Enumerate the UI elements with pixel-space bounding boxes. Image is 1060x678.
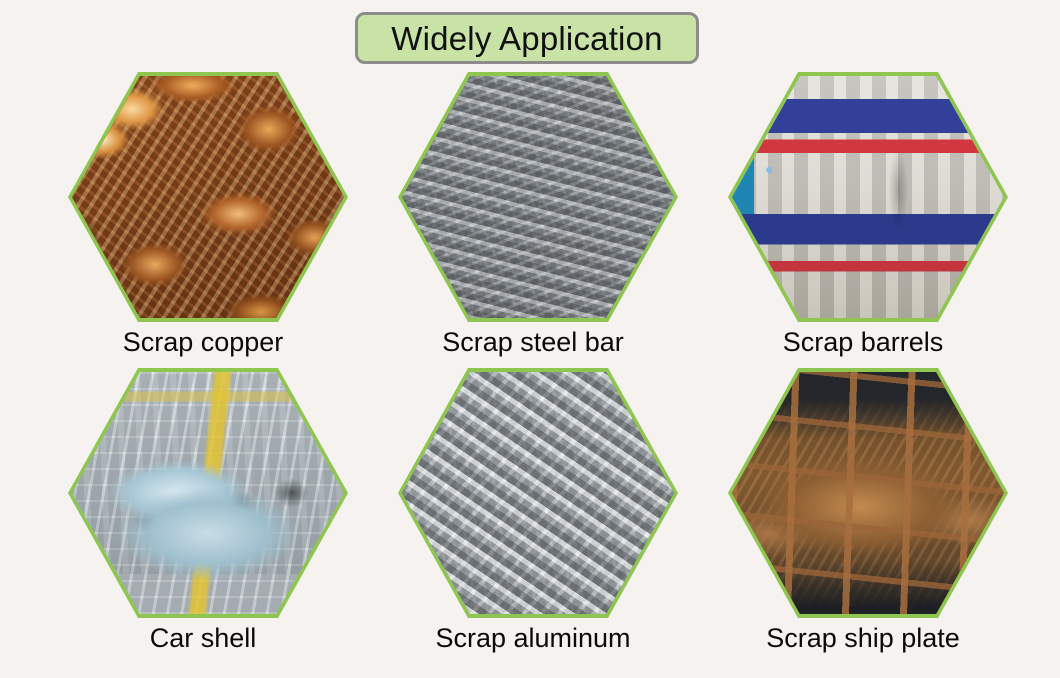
photo-scrap-aluminum bbox=[402, 372, 674, 614]
hexagon-image-mask bbox=[402, 76, 674, 318]
widely-application-banner: Widely Application bbox=[355, 12, 699, 64]
hexagon-frame bbox=[68, 368, 348, 618]
photo-scrap-barrels bbox=[732, 76, 1004, 318]
application-item-scrap-aluminum[interactable]: Scrap aluminum bbox=[388, 368, 678, 668]
photo-scrap-copper bbox=[72, 76, 344, 318]
hexagon-frame bbox=[728, 72, 1008, 322]
application-item-label: Scrap steel bar bbox=[388, 324, 678, 360]
hexagon-image-mask bbox=[402, 372, 674, 614]
hexagon-frame bbox=[398, 368, 678, 618]
application-item-label: Scrap aluminum bbox=[388, 620, 678, 656]
application-item-scrap-steel-bar[interactable]: Scrap steel bar bbox=[388, 72, 678, 372]
page-title: Widely Application bbox=[391, 22, 662, 55]
application-item-car-shell[interactable]: Car shell bbox=[58, 368, 348, 668]
hexagon-image-mask bbox=[732, 76, 1004, 318]
hexagon-image-mask bbox=[732, 372, 1004, 614]
hexagon-image-mask bbox=[72, 76, 344, 318]
hexagon-image-mask bbox=[72, 372, 344, 614]
photo-scrap-steel-bar bbox=[402, 76, 674, 318]
application-item-label: Scrap copper bbox=[58, 324, 348, 360]
application-grid: Scrap copper Scrap steel bar Scrap barre… bbox=[0, 72, 1060, 678]
application-item-scrap-ship-plate[interactable]: Scrap ship plate bbox=[718, 368, 1008, 668]
photo-car-shell bbox=[72, 372, 344, 614]
photo-scrap-ship-plate bbox=[732, 372, 1004, 614]
hexagon-frame bbox=[398, 72, 678, 322]
application-item-label: Scrap barrels bbox=[718, 324, 1008, 360]
hexagon-frame bbox=[68, 72, 348, 322]
application-item-label: Scrap ship plate bbox=[718, 620, 1008, 656]
application-item-label: Car shell bbox=[58, 620, 348, 656]
application-item-scrap-copper[interactable]: Scrap copper bbox=[58, 72, 348, 372]
hexagon-frame bbox=[728, 368, 1008, 618]
application-item-scrap-barrels[interactable]: Scrap barrels bbox=[718, 72, 1008, 372]
